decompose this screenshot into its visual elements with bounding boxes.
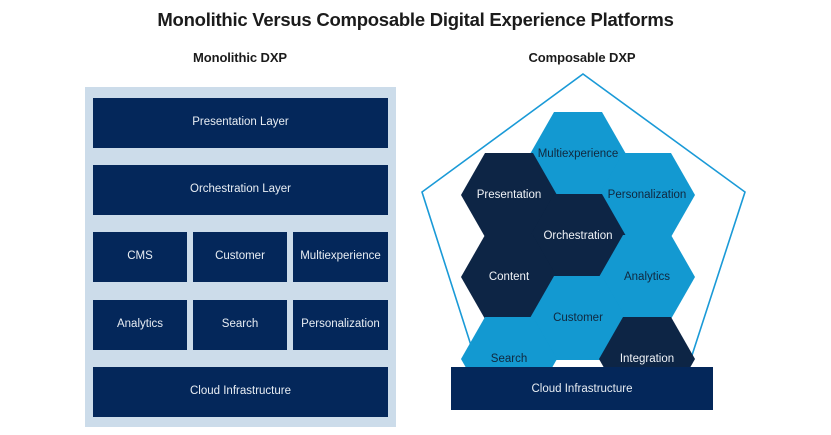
monolithic-panel: Presentation Layer Orchestration Layer C… xyxy=(85,87,396,427)
mono-box-orchestration-layer[interactable]: Orchestration Layer xyxy=(93,165,388,215)
mono-box-customer[interactable]: Customer xyxy=(193,232,287,282)
composable-cloud-infrastructure-bar[interactable]: Cloud Infrastructure xyxy=(451,367,713,410)
mono-box-multiexperience[interactable]: Multiexperience xyxy=(293,232,388,282)
mono-box-cloud-infrastructure[interactable]: Cloud Infrastructure xyxy=(93,367,388,417)
page-title: Monolithic Versus Composable Digital Exp… xyxy=(0,9,831,31)
diagram-canvas: Monolithic Versus Composable Digital Exp… xyxy=(0,0,831,435)
monolithic-subtitle: Monolithic DXP xyxy=(85,50,395,65)
hexagon-grid: Multiexperience Presentation Personaliza… xyxy=(420,60,760,390)
mono-box-analytics[interactable]: Analytics xyxy=(93,300,187,350)
mono-box-search[interactable]: Search xyxy=(193,300,287,350)
mono-box-personalization[interactable]: Personalization xyxy=(293,300,388,350)
mono-box-presentation-layer[interactable]: Presentation Layer xyxy=(93,98,388,148)
mono-box-cms[interactable]: CMS xyxy=(93,232,187,282)
